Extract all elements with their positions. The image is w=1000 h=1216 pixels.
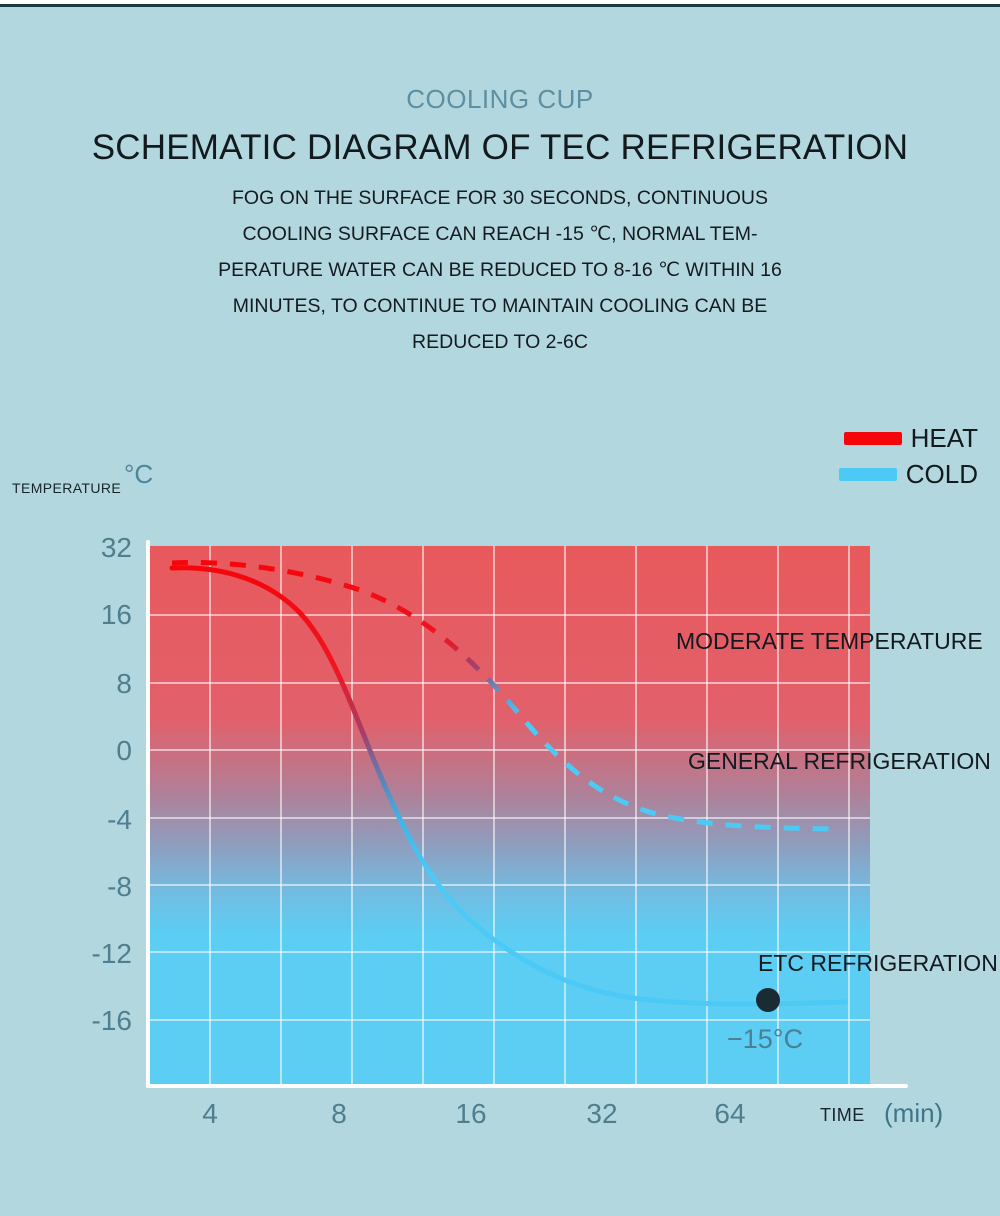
x-axis-line (146, 1084, 908, 1088)
marker-value-label: −15°C (727, 1024, 803, 1055)
annotation-general-refrigeration: GENERAL REFRIGERATION (688, 748, 991, 775)
subtitle-line-4: MINUTES, TO CONTINUE TO MAINTAIN COOLING… (150, 288, 850, 324)
poster-root: COOLING CUP SCHEMATIC DIAGRAM OF TEC REF… (0, 0, 1000, 1216)
x-tick-4: 4 (180, 1100, 240, 1128)
x-tick-32: 32 (572, 1100, 632, 1128)
top-dark-rule (0, 4, 1000, 7)
x-axis-caption: TIME (820, 1105, 865, 1126)
page-subtitle: FOG ON THE SURFACE FOR 30 SECONDS, CONTI… (150, 180, 850, 360)
annotation-moderate-temperature: MODERATE TEMPERATURE (676, 628, 983, 655)
x-axis-unit: (min) (884, 1098, 943, 1129)
chart-svg (0, 440, 1000, 1140)
y-axis-line (146, 540, 150, 1086)
chart-plot-area: 32 16 8 0 -4 -8 -12 -16 (0, 440, 1000, 1140)
subtitle-line-2: COOLING SURFACE CAN REACH -15 ℃, NORMAL … (150, 216, 850, 252)
annotation-etc-refrigeration: ETC REFRIGERATION (758, 950, 998, 977)
subtitle-line-5: REDUCED TO 2-6C (150, 324, 850, 360)
page-title: SCHEMATIC DIAGRAM OF TEC REFRIGERATION (0, 128, 1000, 168)
x-tick-16: 16 (441, 1100, 501, 1128)
x-tick-8: 8 (309, 1100, 369, 1128)
x-tick-64: 64 (700, 1100, 760, 1128)
subtitle-line-3: PERATURE WATER CAN BE REDUCED TO 8-16 ℃ … (150, 252, 850, 288)
page-kicker: COOLING CUP (0, 84, 1000, 115)
etc-point-marker (756, 988, 780, 1012)
subtitle-line-1: FOG ON THE SURFACE FOR 30 SECONDS, CONTI… (150, 180, 850, 216)
